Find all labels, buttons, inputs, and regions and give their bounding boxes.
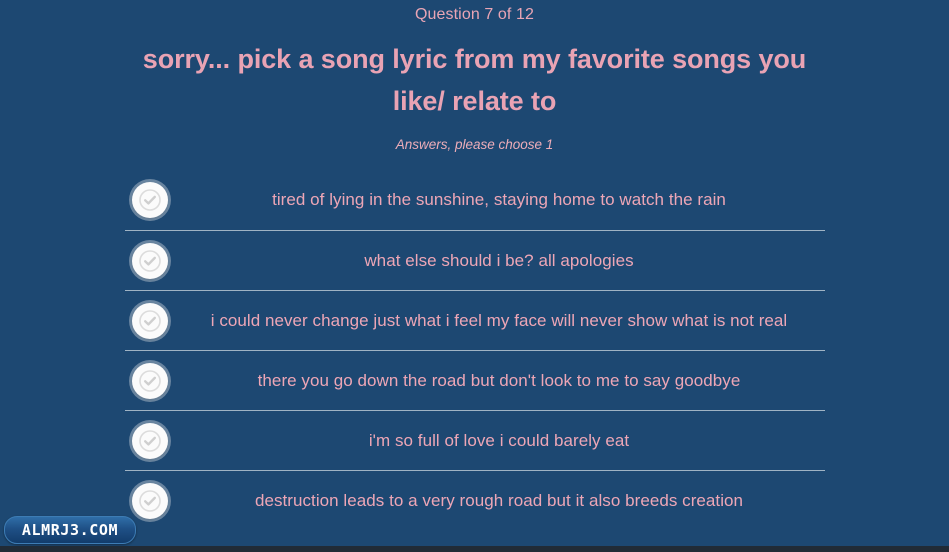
option-row[interactable]: what else should i be? all apologies: [125, 230, 825, 290]
quiz-header: Question 7 of 12 sorry... pick a song ly…: [0, 0, 949, 154]
option-label: tired of lying in the sunshine, staying …: [178, 178, 825, 222]
option-label: there you go down the road but don't loo…: [178, 359, 825, 403]
check-circle-icon[interactable]: [132, 243, 168, 279]
bottom-strip: [0, 546, 949, 552]
answers-hint: Answers, please choose 1: [0, 136, 949, 154]
option-row[interactable]: tired of lying in the sunshine, staying …: [125, 170, 825, 230]
options-list: tired of lying in the sunshine, staying …: [125, 170, 825, 530]
question-title: sorry... pick a song lyric from my favor…: [125, 38, 825, 122]
option-label: destruction leads to a very rough road b…: [178, 479, 825, 523]
check-circle-icon[interactable]: [132, 182, 168, 218]
question-counter: Question 7 of 12: [0, 4, 949, 26]
option-row[interactable]: i'm so full of love i could barely eat: [125, 410, 825, 470]
option-label: i'm so full of love i could barely eat: [178, 419, 825, 463]
check-circle-icon[interactable]: [132, 303, 168, 339]
watermark-text: ALMRJ3.COM: [22, 521, 118, 539]
option-row[interactable]: i could never change just what i feel my…: [125, 290, 825, 350]
check-circle-icon[interactable]: [132, 483, 168, 519]
quiz-page: Question 7 of 12 sorry... pick a song ly…: [0, 0, 949, 552]
option-label: what else should i be? all apologies: [178, 239, 825, 283]
site-watermark: ALMRJ3.COM: [4, 516, 136, 544]
check-circle-icon[interactable]: [132, 423, 168, 459]
option-row[interactable]: there you go down the road but don't loo…: [125, 350, 825, 410]
option-label: i could never change just what i feel my…: [178, 299, 825, 343]
option-row[interactable]: destruction leads to a very rough road b…: [125, 470, 825, 530]
check-circle-icon[interactable]: [132, 363, 168, 399]
